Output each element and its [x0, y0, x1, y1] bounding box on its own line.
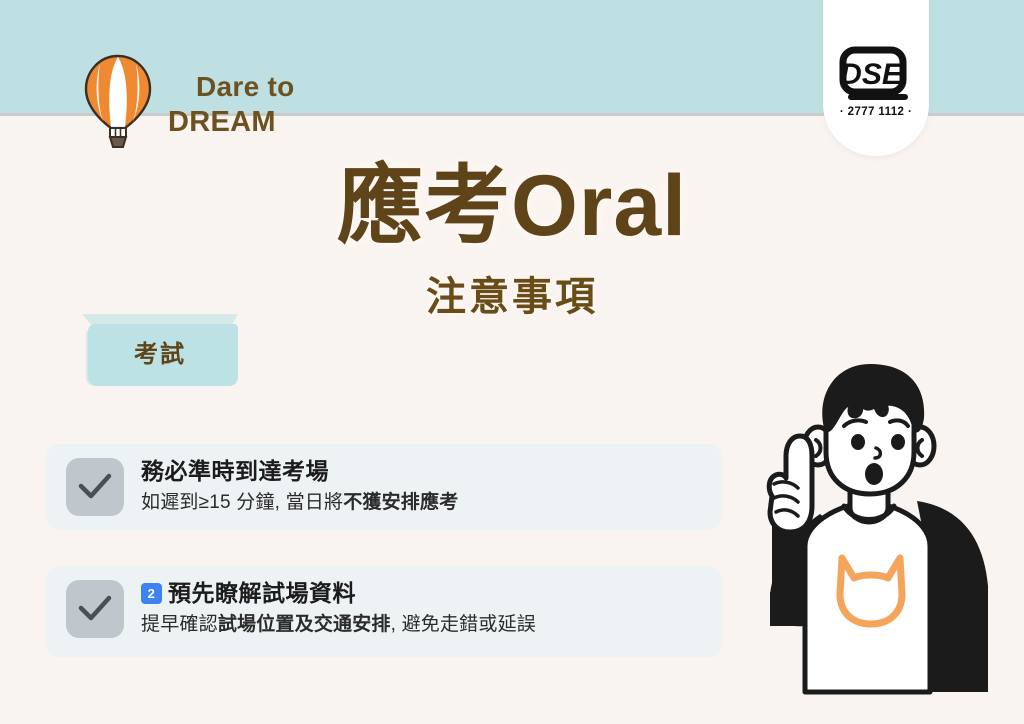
tip-subtext-plain-2: , 避免走錯或延誤	[391, 614, 536, 635]
tip-card-text: 2 預先瞭解試場資料 提早確認試場位置及交通安排, 避免走錯或延誤	[141, 578, 710, 639]
tip-card[interactable]: 務必準時到達考場 如遲到≥15 分鐘, 當日將不獲安排應考	[46, 444, 722, 530]
hot-air-balloon-icon	[80, 52, 156, 152]
category-tab[interactable]: 考試	[78, 312, 242, 388]
page-title: 應考Oral	[0, 156, 1024, 256]
tip-card-title-label: 預先瞭解試場資料	[168, 578, 356, 608]
tip-card[interactable]: 2 預先瞭解試場資料 提早確認試場位置及交通安排, 避免走錯或延誤	[46, 566, 722, 657]
poster-root: Dare to DREAM DSE · 2777 1112 · 應考Oral 注…	[0, 0, 1024, 724]
dse-phone-number: · 2777 1112 ·	[823, 106, 929, 118]
tip-subtext-plain-1: 提早確認	[141, 614, 218, 635]
tip-card-title: 2 預先瞭解試場資料	[141, 578, 710, 608]
brand-line-dream: DREAM	[168, 104, 398, 140]
tip-card-subtitle: 提早確認試場位置及交通安排, 避免走錯或延誤	[141, 611, 710, 639]
svg-text:DSE: DSE	[840, 58, 903, 91]
dse-mark-icon: DSE	[839, 46, 913, 102]
tip-subtext-plain-1: 如遲到≥15 分鐘, 當日將	[141, 492, 343, 513]
dse-logo-badge: DSE · 2777 1112 ·	[823, 0, 929, 156]
tip-card-title-label: 務必準時到達考場	[141, 456, 329, 486]
tip-subtext-strong: 試場位置及交通安排	[218, 614, 391, 635]
check-icon[interactable]	[66, 580, 124, 638]
tip-subtext-strong: 不獲安排應考	[343, 492, 458, 513]
brand-text: Dare to DREAM	[168, 70, 398, 140]
tip-card-title: 務必準時到達考場	[141, 456, 710, 486]
tip-card-subtitle: 如遲到≥15 分鐘, 當日將不獲安排應考	[141, 489, 710, 517]
tip-number-badge: 2	[141, 583, 162, 604]
category-tab-label: 考試	[78, 334, 242, 369]
brand-line-dare-to: Dare to	[168, 70, 398, 104]
check-icon[interactable]	[66, 458, 124, 516]
tip-card-text: 務必準時到達考場 如遲到≥15 分鐘, 當日將不獲安排應考	[141, 456, 710, 517]
person-pointing-up-icon	[712, 356, 1024, 701]
